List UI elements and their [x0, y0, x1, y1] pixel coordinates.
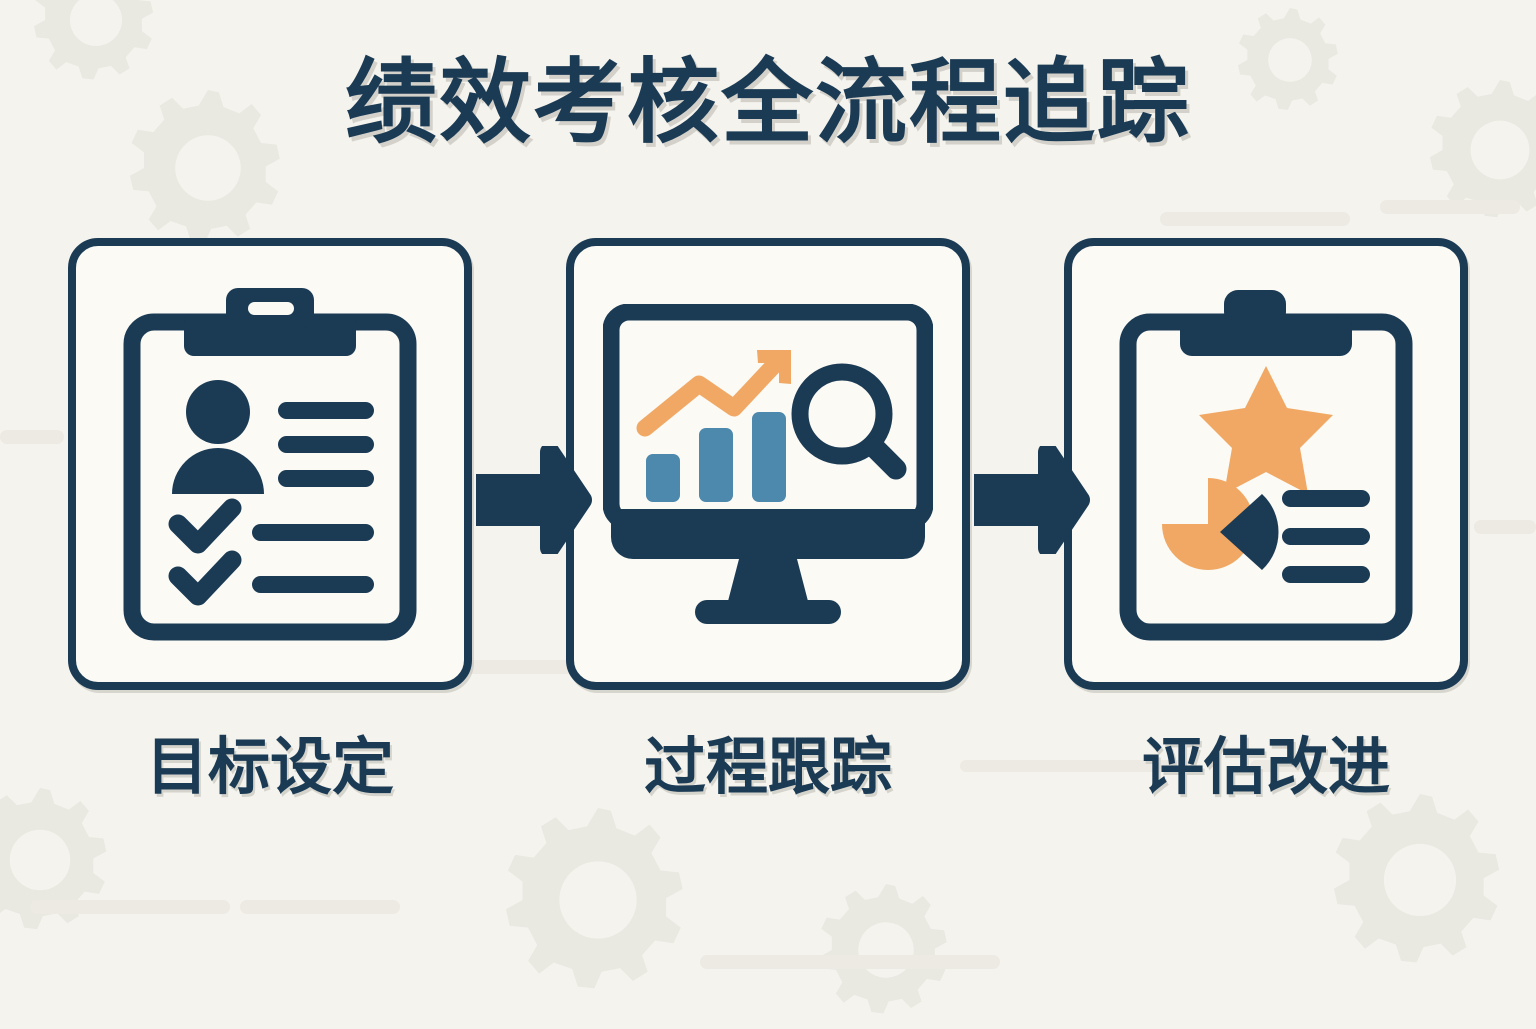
- clipboard-star-piechart-icon: [1072, 246, 1460, 682]
- bar-1: [646, 454, 680, 502]
- step-card-evaluate-improve[interactable]: [1064, 238, 1468, 690]
- arrow-right-icon: [476, 446, 594, 559]
- step-card-process-tracking[interactable]: [566, 238, 970, 690]
- page-title: 绩效考核全流程追踪: [0, 52, 1536, 155]
- arrow-right-icon: [974, 446, 1092, 559]
- process-steps-row: [0, 238, 1536, 698]
- step-card-goal-setting[interactable]: [68, 238, 472, 690]
- step-label-goal-setting: 目标设定: [68, 716, 472, 806]
- bar-2: [699, 428, 733, 502]
- infographic-canvas: 绩效考核全流程追踪: [0, 0, 1536, 1024]
- monitor-chart-magnifier-icon: [574, 246, 962, 682]
- star-shape: [1199, 366, 1333, 494]
- bar-3: [752, 412, 786, 502]
- step-label-process-tracking: 过程跟踪: [566, 716, 970, 806]
- clipboard-person-checklist-icon: [76, 246, 464, 682]
- step-label-evaluate-improve: 评估改进: [1064, 716, 1468, 806]
